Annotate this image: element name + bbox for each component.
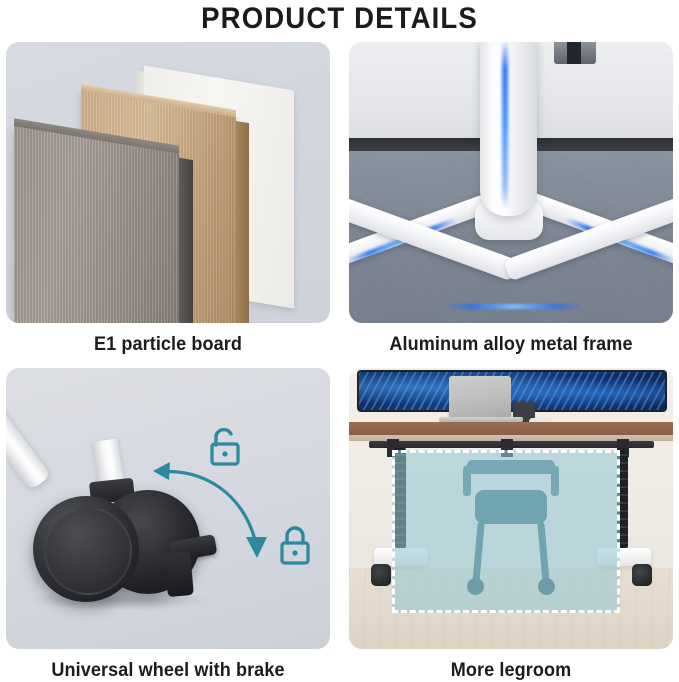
panel-image-more-legroom[interactable]: [349, 368, 673, 649]
feature-cell-more-legroom: More legroom: [349, 368, 673, 682]
monitor-foot: [554, 42, 596, 64]
caption-metal-frame: Aluminum alloy metal frame: [357, 334, 665, 356]
laptop-screen: [449, 376, 511, 420]
feature-cell-particle-board: E1 particle board: [6, 42, 330, 356]
gray-board-side-edge: [179, 158, 193, 323]
column-led-stripe: [502, 42, 508, 210]
feature-cell-metal-frame: Aluminum alloy metal frame: [349, 42, 673, 356]
panel-image-particle-board[interactable]: [6, 42, 330, 323]
product-details-infographic: PRODUCT DETAILS E1 particle board: [0, 0, 679, 673]
panel-image-universal-wheel[interactable]: [6, 368, 330, 649]
caption-universal-wheel: Universal wheel with brake: [14, 660, 322, 682]
led-glow-front: [444, 304, 584, 309]
center-column: [480, 42, 537, 216]
lock-icon: [274, 523, 316, 569]
unlock-icon: [204, 424, 246, 470]
feature-grid: E1 particle board Aluminum alloy metal: [6, 42, 673, 670]
desk-caster-right: [632, 564, 652, 586]
gray-board: [14, 126, 179, 323]
desk-top-surface: [349, 422, 673, 435]
caster-hubcap: [44, 507, 132, 595]
chair-leg-upper: [6, 375, 51, 490]
page-title: PRODUCT DETAILS: [27, 2, 652, 36]
ultrawide-monitor: [357, 370, 667, 412]
legroom-highlight-area: [392, 450, 620, 613]
desk-caster-left: [371, 564, 391, 586]
panel-image-metal-frame[interactable]: [349, 42, 673, 323]
oak-board-side-edge: [236, 121, 249, 323]
caption-more-legroom: More legroom: [357, 660, 665, 682]
caption-particle-board: E1 particle board: [14, 334, 322, 356]
feature-cell-universal-wheel: Universal wheel with brake: [6, 368, 330, 682]
